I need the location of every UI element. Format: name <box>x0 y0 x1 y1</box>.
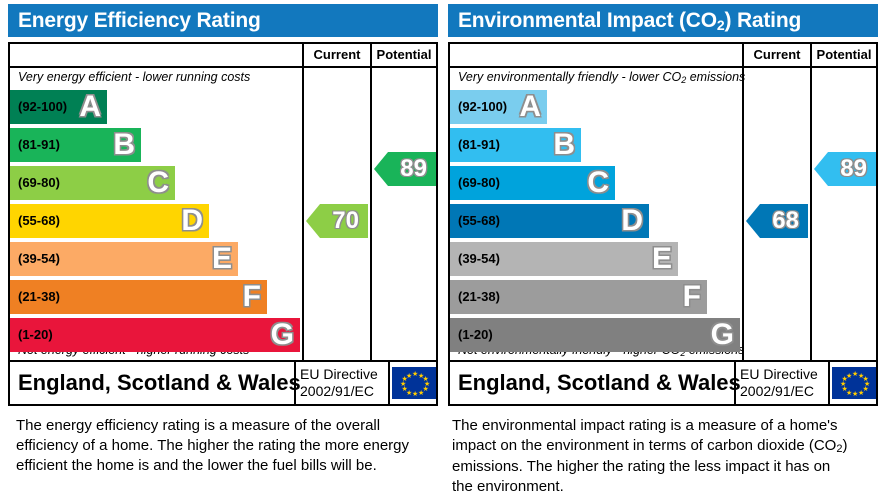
band-f-letter: F <box>243 282 261 312</box>
column-divider-potential <box>370 44 372 362</box>
band-c-letter: C <box>147 168 169 198</box>
certificate-footer: England, Scotland & Wales EU Directive 2… <box>10 360 436 404</box>
header-potential: Potential <box>812 44 876 66</box>
epc-rating-page: Energy Efficiency Rating Current Potenti… <box>0 0 880 493</box>
environmental-impact-certificate: Environmental Impact (CO2) Rating Curren… <box>440 0 879 410</box>
band-a-range: (92-100) <box>18 90 67 124</box>
region-label: England, Scotland & Wales <box>458 362 741 404</box>
band-a: (92-100) A <box>10 90 107 124</box>
band-a-letter: A <box>519 92 541 122</box>
eu-directive-line2: 2002/91/EC <box>740 383 828 400</box>
band-d-range: (55-68) <box>18 204 60 238</box>
caption-top: Very energy efficient - lower running co… <box>18 70 250 84</box>
description-sub: 2 <box>836 443 842 455</box>
caption-top-pre: Very environmentally friendly - lower CO <box>458 70 681 84</box>
band-f-range: (21-38) <box>18 280 60 314</box>
band-g-letter: G <box>711 320 734 350</box>
band-b-range: (81-91) <box>18 128 60 162</box>
band-a-range: (92-100) <box>458 90 507 124</box>
region-label: England, Scotland & Wales <box>18 362 301 404</box>
band-c: (69-80) C <box>10 166 175 200</box>
description-pre: The environmental impact rating is a mea… <box>452 417 838 454</box>
footer-divider-1 <box>734 362 736 404</box>
band-g-range: (1-20) <box>458 318 493 352</box>
potential-rating-arrow: 89 <box>814 152 876 186</box>
band-f: (21-38) F <box>10 280 267 314</box>
band-c-range: (69-80) <box>18 166 60 200</box>
environmental-impact-table: Current Potential Very environmentally f… <box>448 42 878 406</box>
energy-efficiency-description: The energy efficiency rating is a measur… <box>16 416 416 476</box>
current-rating-arrow: 68 <box>746 204 808 238</box>
band-b-letter: B <box>553 130 575 160</box>
band-b-letter: B <box>113 130 135 160</box>
band-d-letter: D <box>621 206 643 236</box>
band-g: (1-20) G <box>10 318 300 352</box>
caption-top: Very environmentally friendly - lower CO… <box>458 70 745 84</box>
band-a-letter: A <box>79 92 101 122</box>
band-g-letter: G <box>271 320 294 350</box>
eu-flag-icon: ★ ★ ★ ★ ★ ★ ★ ★ ★ ★ ★ ★ <box>832 367 876 399</box>
energy-efficiency-certificate: Energy Efficiency Rating Current Potenti… <box>0 0 439 410</box>
band-g: (1-20) G <box>450 318 740 352</box>
eu-directive-label: EU Directive 2002/91/EC <box>740 366 828 400</box>
footer-divider-2 <box>828 362 830 404</box>
eu-directive-line1: EU Directive <box>740 366 828 383</box>
caption-top-post: emissions <box>686 70 745 84</box>
eu-directive-label: EU Directive 2002/91/EC <box>300 366 388 400</box>
footer-divider-2 <box>388 362 390 404</box>
eu-directive-line2: 2002/91/EC <box>300 383 388 400</box>
band-a: (92-100) A <box>450 90 547 124</box>
column-divider-current <box>302 44 304 362</box>
column-divider-current <box>742 44 744 362</box>
band-c: (69-80) C <box>450 166 615 200</box>
band-b-range: (81-91) <box>458 128 500 162</box>
title-post: ) Rating <box>725 9 802 32</box>
certificate-footer: England, Scotland & Wales EU Directive 2… <box>450 360 876 404</box>
band-d-range: (55-68) <box>458 204 500 238</box>
caption-top-sub: 2 <box>681 75 686 85</box>
energy-efficiency-title: Energy Efficiency Rating <box>8 4 438 37</box>
band-f-range: (21-38) <box>458 280 500 314</box>
band-e-letter: E <box>652 244 672 274</box>
co2-band-chart: Very environmentally friendly - lower CO… <box>450 68 742 362</box>
energy-efficiency-table: Current Potential Very energy efficient … <box>8 42 438 406</box>
band-c-range: (69-80) <box>458 166 500 200</box>
environmental-impact-description: The environmental impact rating is a mea… <box>452 416 852 493</box>
band-f-letter: F <box>683 282 701 312</box>
band-c-letter: C <box>587 168 609 198</box>
potential-rating-arrow: 89 <box>374 152 436 186</box>
column-divider-potential <box>810 44 812 362</box>
title-subscript: 2 <box>717 17 725 33</box>
title-pre: Environmental Impact (CO <box>458 9 717 32</box>
band-e-range: (39-54) <box>458 242 500 276</box>
footer-divider-1 <box>294 362 296 404</box>
band-e: (39-54) E <box>450 242 678 276</box>
header-potential: Potential <box>372 44 436 66</box>
header-current: Current <box>304 44 370 66</box>
current-rating-arrow: 70 <box>306 204 368 238</box>
environmental-impact-title: Environmental Impact (CO2) Rating <box>448 4 878 37</box>
band-e-range: (39-54) <box>18 242 60 276</box>
band-b: (81-91) B <box>10 128 141 162</box>
band-d-letter: D <box>181 206 203 236</box>
band-f: (21-38) F <box>450 280 707 314</box>
eu-flag-icon: ★ ★ ★ ★ ★ ★ ★ ★ ★ ★ ★ ★ <box>392 367 436 399</box>
band-g-range: (1-20) <box>18 318 53 352</box>
header-current: Current <box>744 44 810 66</box>
eu-directive-line1: EU Directive <box>300 366 388 383</box>
band-d: (55-68) D <box>450 204 649 238</box>
band-e: (39-54) E <box>10 242 238 276</box>
band-b: (81-91) B <box>450 128 581 162</box>
band-e-letter: E <box>212 244 232 274</box>
energy-band-chart: Very energy efficient - lower running co… <box>10 68 302 362</box>
band-d: (55-68) D <box>10 204 209 238</box>
